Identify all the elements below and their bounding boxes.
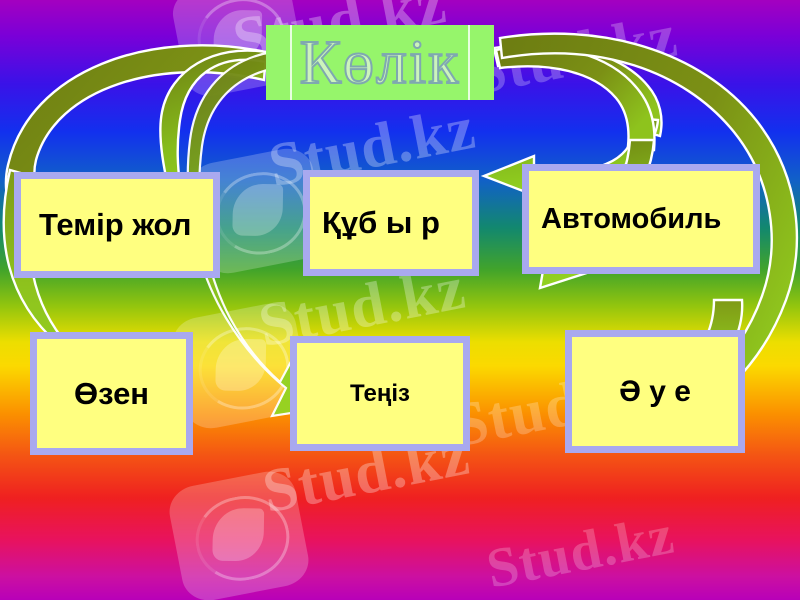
node-label-temir-zhol: Темір жол	[39, 207, 213, 243]
node-temir-zhol[interactable]: Темір жол	[14, 172, 220, 278]
node-teniz[interactable]: Теңіз	[290, 336, 470, 451]
diagram-title-box: Көлік	[266, 25, 494, 100]
node-label-aue: Ә у е	[572, 375, 738, 409]
node-avtomobil[interactable]: Автомобиль	[522, 164, 760, 274]
node-aue[interactable]: Ә у е	[565, 330, 745, 453]
slide-canvas: Stud.kz Stud.kz Stud.kz Stud.kz Stud.kz …	[0, 0, 800, 600]
node-label-qubyr: Құб ы р	[322, 205, 472, 241]
diagram-title: Көлік	[300, 32, 461, 94]
node-ozen[interactable]: Өзен	[30, 332, 193, 455]
node-label-teniz: Теңіз	[297, 380, 463, 408]
node-qubyr[interactable]: Құб ы р	[303, 170, 479, 276]
title-divider-right	[468, 25, 470, 100]
node-label-ozen: Өзен	[37, 376, 186, 412]
node-label-avtomobil: Автомобиль	[541, 203, 753, 236]
title-divider-left	[290, 25, 292, 100]
